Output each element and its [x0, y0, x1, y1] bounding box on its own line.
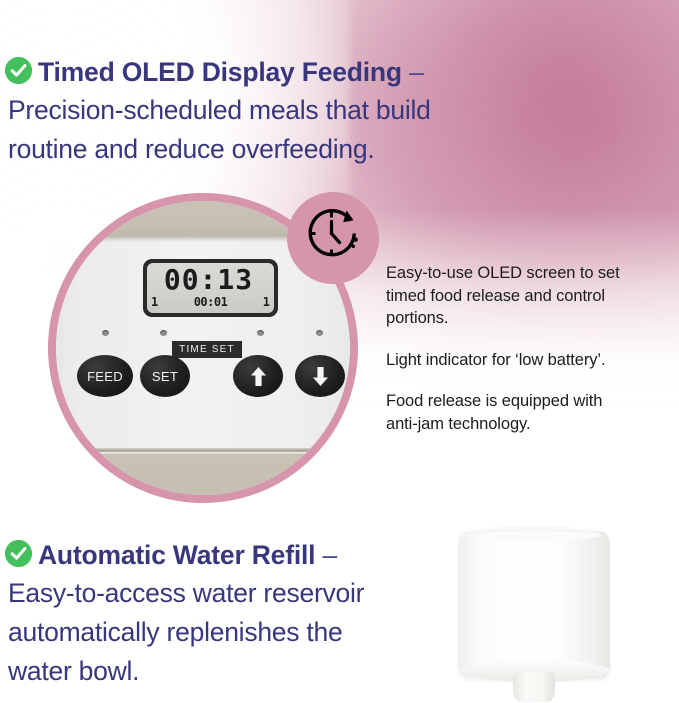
display-sub-row: 1 00:01 1: [151, 295, 270, 309]
feature-2-title: Automatic Water Refill: [38, 540, 315, 570]
feature-2-body-line-3: water bowl.: [8, 652, 468, 691]
led-indicator-3: [257, 330, 264, 336]
display-sub-right: 1: [263, 295, 270, 309]
display-sub-middle: 00:01: [194, 295, 228, 309]
detail-paragraph-2: Light indicator for ‘low battery’.: [386, 349, 636, 372]
feed-button[interactable]: FEED: [77, 355, 133, 397]
feed-button-label: FEED: [87, 369, 123, 384]
feature-1-title: Timed OLED Display Feeding: [38, 57, 402, 87]
detail-paragraph-3: Food release is equipped with anti-jam t…: [386, 390, 636, 435]
time-set-label: TIME SET: [179, 344, 235, 355]
infographic-canvas: Timed OLED Display Feeding – Precision-s…: [0, 0, 679, 703]
time-set-label-plate: TIME SET: [172, 341, 242, 358]
device-lower-shell: [56, 454, 350, 495]
oled-screen-inner: 00:13 1 00:01 1: [147, 263, 274, 313]
check-circle-icon: [5, 540, 32, 567]
check-circle-icon: [5, 57, 32, 84]
display-sub-left: 1: [151, 295, 158, 309]
feature-1-dash: –: [409, 57, 424, 87]
feature-2-dash: –: [323, 540, 338, 570]
arrow-up-button[interactable]: [233, 355, 283, 397]
tank-body: [458, 531, 610, 679]
tank-rim: [466, 529, 602, 541]
oled-display: 00:13 1 00:01 1: [143, 259, 278, 317]
led-indicator-4: [316, 330, 323, 336]
arrow-down-button[interactable]: [295, 355, 345, 397]
details-column: Easy-to-use OLED screen to set timed foo…: [386, 262, 636, 435]
feature-1-body-line-1: Precision-scheduled meals that build: [8, 91, 568, 130]
clock-timer-badge: [287, 192, 379, 284]
led-indicator-1: [102, 330, 109, 336]
clock-timer-icon: [302, 206, 364, 271]
tank-spout: [513, 672, 555, 702]
feature-1-body: Precision-scheduled meals that build rou…: [8, 91, 568, 169]
display-main-time: 00:13: [147, 264, 270, 295]
led-indicator-2: [160, 330, 167, 336]
feature-2-body: Easy-to-access water reservoir automatic…: [8, 574, 468, 691]
arrow-down-icon: [312, 366, 329, 387]
detail-paragraph-1: Easy-to-use OLED screen to set timed foo…: [386, 262, 636, 330]
feature-2-body-line-1: Easy-to-access water reservoir: [8, 574, 468, 613]
arrow-up-icon: [250, 366, 267, 387]
set-button-label: SET: [152, 369, 178, 384]
product-photo-water-tank: [452, 522, 617, 703]
feature-2-headline: Automatic Water Refill –: [38, 535, 337, 575]
feature-2-body-line-2: automatically replenishes the: [8, 613, 468, 652]
feature-1-headline: Timed OLED Display Feeding –: [38, 52, 424, 92]
feature-1-body-line-2: routine and reduce overfeeding.: [8, 130, 568, 169]
set-button[interactable]: SET: [140, 355, 190, 397]
